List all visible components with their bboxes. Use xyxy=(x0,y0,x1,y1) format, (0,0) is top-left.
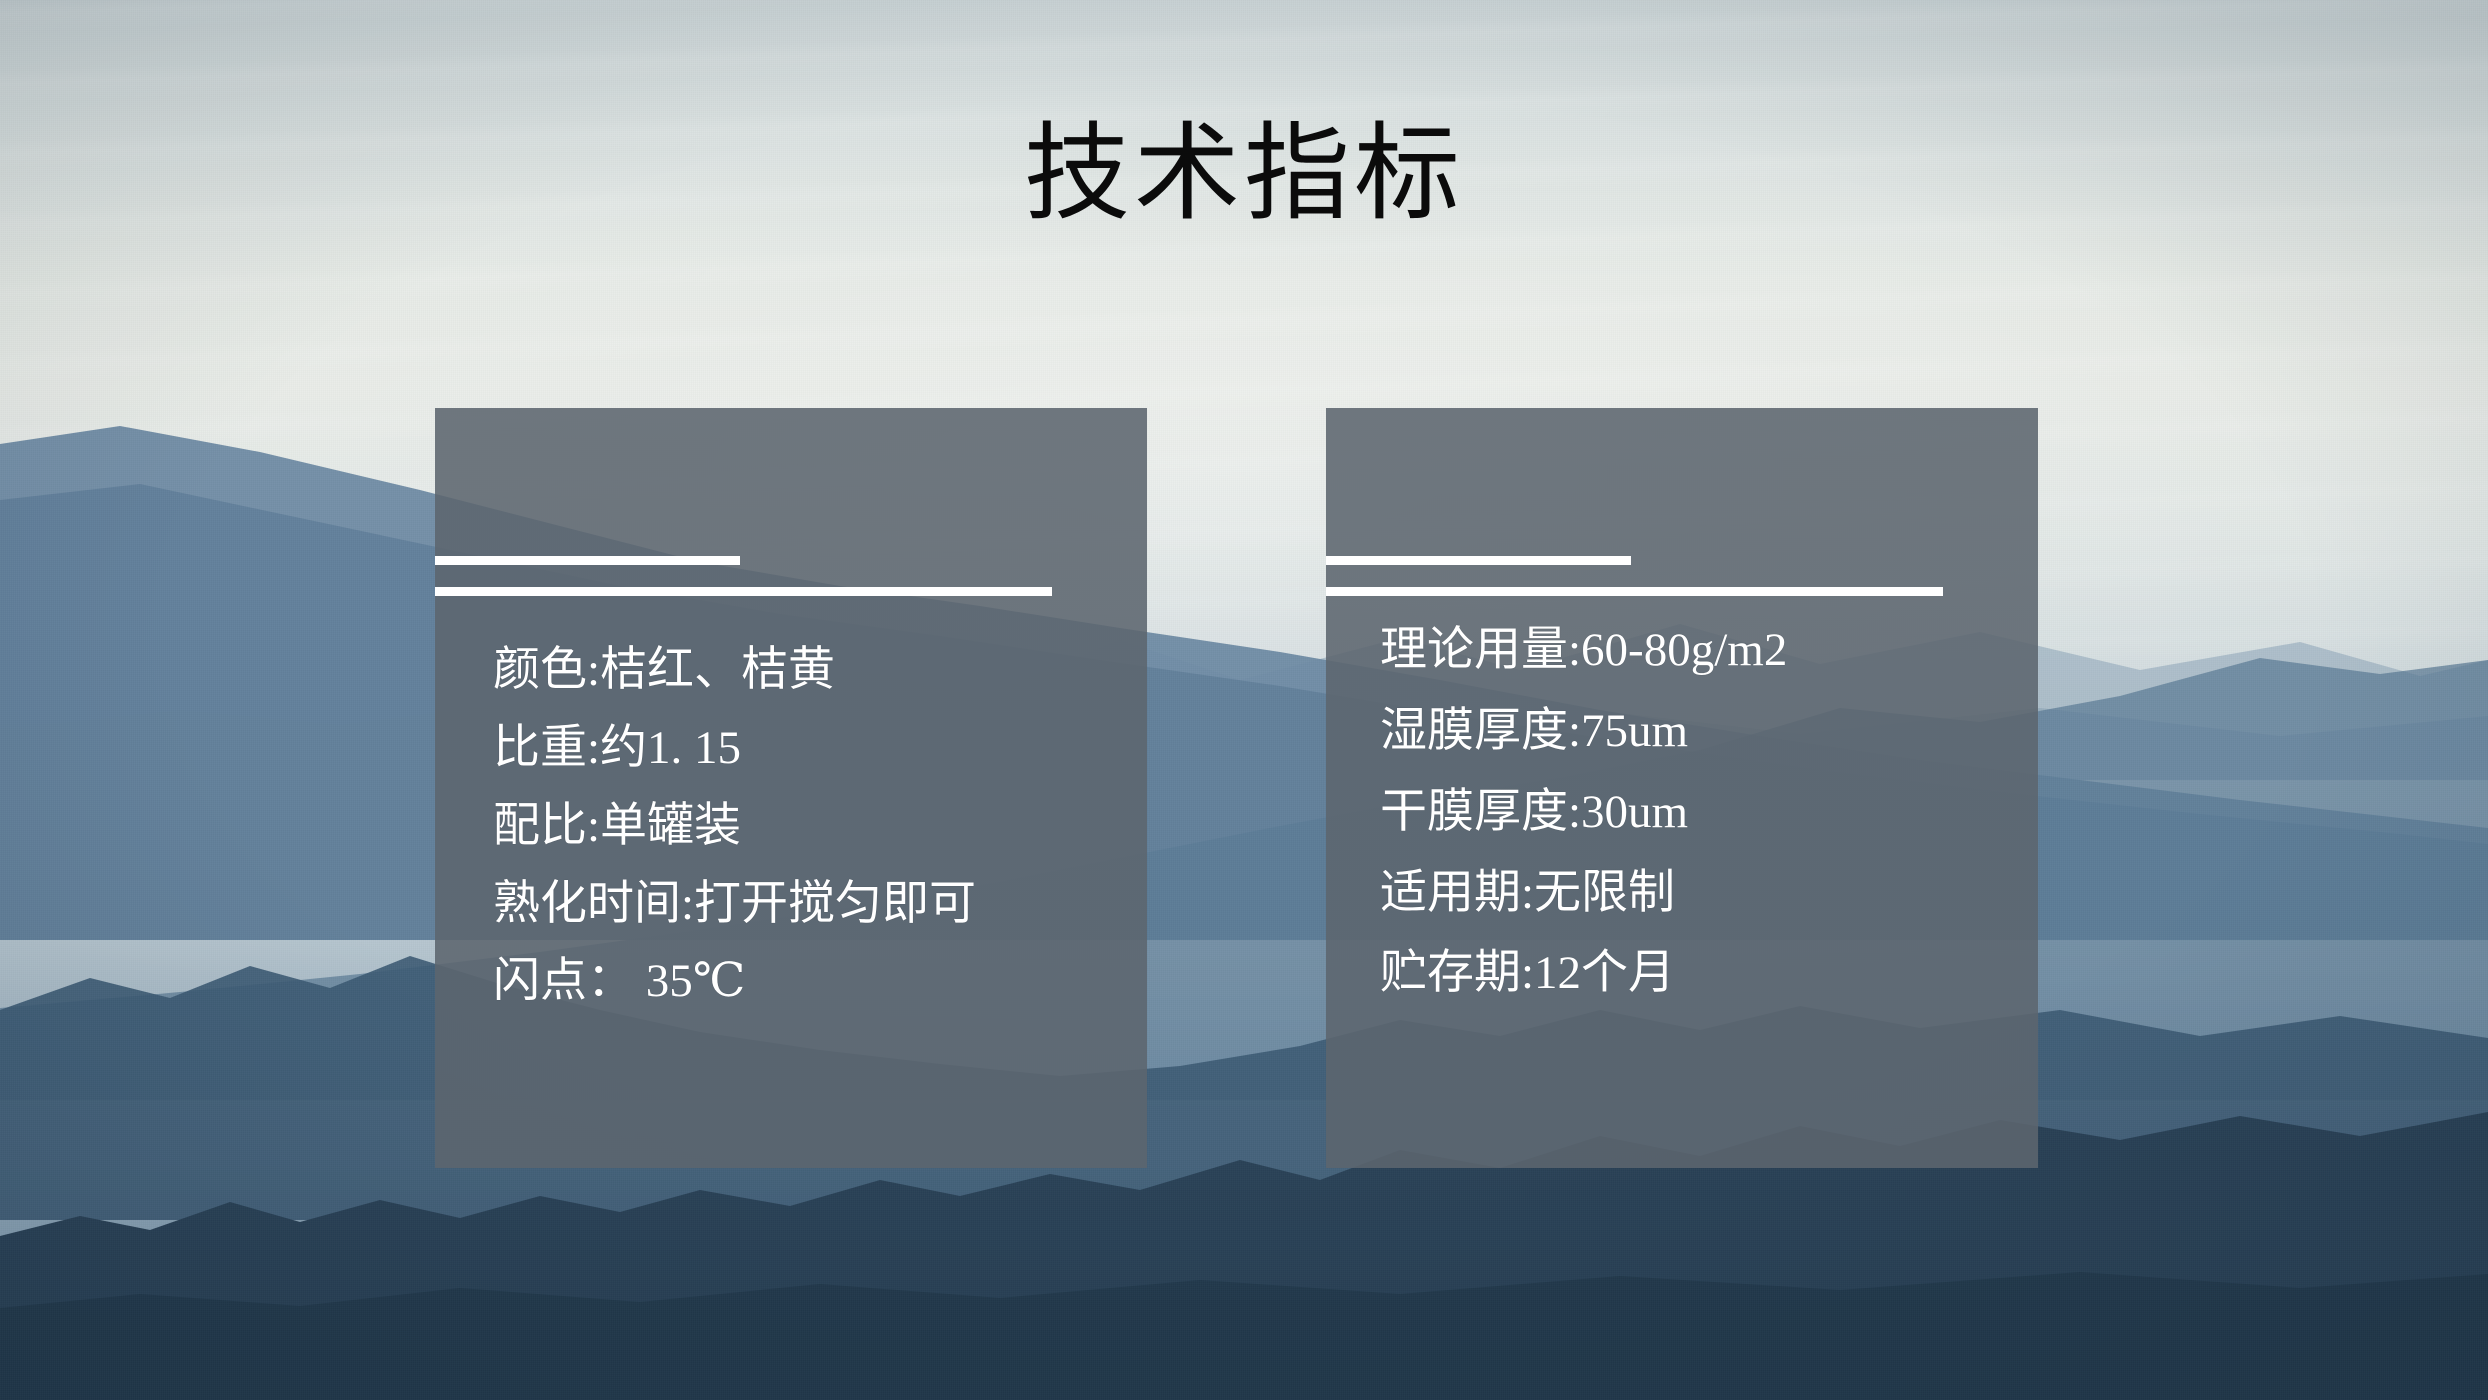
panel-rule-short xyxy=(1326,556,1631,565)
spec-line: 熟化时间:打开搅匀即可 xyxy=(493,872,1129,937)
panel-body: 颜色:桔红、桔黄 比重:约1. 15 配比:单罐装 熟化时间:打开搅匀即可 闪点… xyxy=(493,638,1129,1027)
application-properties-panel: 理论用量:60-80g/m2 湿膜厚度:75um 干膜厚度:30um 适用期:无… xyxy=(1326,408,2038,1168)
spec-line: 贮存期:12个月 xyxy=(1380,941,2020,1006)
panel-body: 理论用量:60-80g/m2 湿膜厚度:75um 干膜厚度:30um 适用期:无… xyxy=(1380,618,2020,1022)
spec-line: 适用期:无限制 xyxy=(1380,861,2020,926)
page-title: 技术指标 xyxy=(0,116,2488,233)
spec-line: 闪点： 35℃ xyxy=(493,949,1129,1014)
product-properties-panel: 颜色:桔红、桔黄 比重:约1. 15 配比:单罐装 熟化时间:打开搅匀即可 闪点… xyxy=(435,408,1147,1168)
spec-line: 理论用量:60-80g/m2 xyxy=(1380,618,2020,683)
spec-line: 干膜厚度:30um xyxy=(1380,780,2020,845)
spec-line: 颜色:桔红、桔黄 xyxy=(493,638,1129,703)
slide-root: 技术指标 颜色:桔红、桔黄 比重:约1. 15 配比:单罐装 熟化时间:打开搅匀… xyxy=(0,0,2488,1400)
spec-line: 湿膜厚度:75um xyxy=(1380,699,2020,764)
panel-rule-long xyxy=(435,587,1052,596)
spec-line: 配比:单罐装 xyxy=(493,794,1129,859)
spec-line: 比重:约1. 15 xyxy=(493,716,1129,781)
panel-rule-long xyxy=(1326,587,1943,596)
panel-rule-short xyxy=(435,556,740,565)
